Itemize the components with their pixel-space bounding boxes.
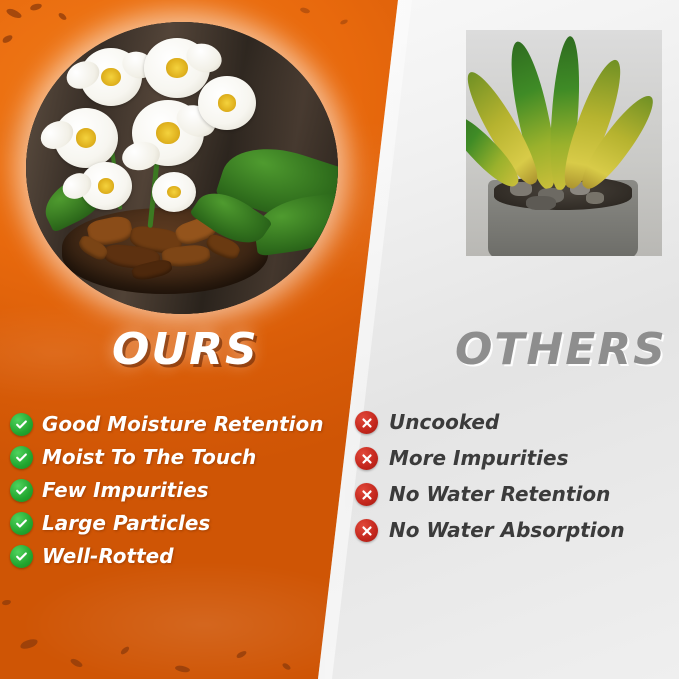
list-item: Good Moisture Retention xyxy=(10,413,380,436)
feature-label: Uncooked xyxy=(389,412,499,433)
list-item: More Impurities xyxy=(355,447,675,470)
check-icon xyxy=(10,512,33,535)
list-item: Large Particles xyxy=(10,512,380,535)
feature-label: No Water Absorption xyxy=(389,520,625,541)
cross-icon xyxy=(355,519,378,542)
feature-label: Few Impurities xyxy=(42,480,209,501)
ours-heading: OURS xyxy=(112,324,259,375)
feature-label: Good Moisture Retention xyxy=(42,414,324,435)
list-item: Uncooked xyxy=(355,411,675,434)
ours-feature-list: Good Moisture Retention Moist To The Tou… xyxy=(10,413,380,578)
feature-label: Well-Rotted xyxy=(42,546,174,567)
ours-product-photo xyxy=(26,22,338,314)
others-heading: OTHERS xyxy=(455,324,667,375)
list-item: Well-Rotted xyxy=(10,545,380,568)
feature-label: Moist To The Touch xyxy=(42,447,256,468)
others-feature-list: Uncooked More Impurities No Water Retent… xyxy=(355,411,675,555)
check-icon xyxy=(10,413,33,436)
comparison-infographic: OURS OTHERS Good Moisture Retention Mois… xyxy=(0,0,679,679)
cross-icon xyxy=(355,447,378,470)
check-icon xyxy=(10,545,33,568)
cross-icon xyxy=(355,411,378,434)
feature-label: No Water Retention xyxy=(389,484,610,505)
check-icon xyxy=(10,446,33,469)
list-item: Few Impurities xyxy=(10,479,380,502)
list-item: No Water Retention xyxy=(355,483,675,506)
check-icon xyxy=(10,479,33,502)
feature-label: Large Particles xyxy=(42,513,210,534)
feature-label: More Impurities xyxy=(389,448,568,469)
list-item: Moist To The Touch xyxy=(10,446,380,469)
others-product-photo xyxy=(466,30,662,256)
cross-icon xyxy=(355,483,378,506)
list-item: No Water Absorption xyxy=(355,519,675,542)
